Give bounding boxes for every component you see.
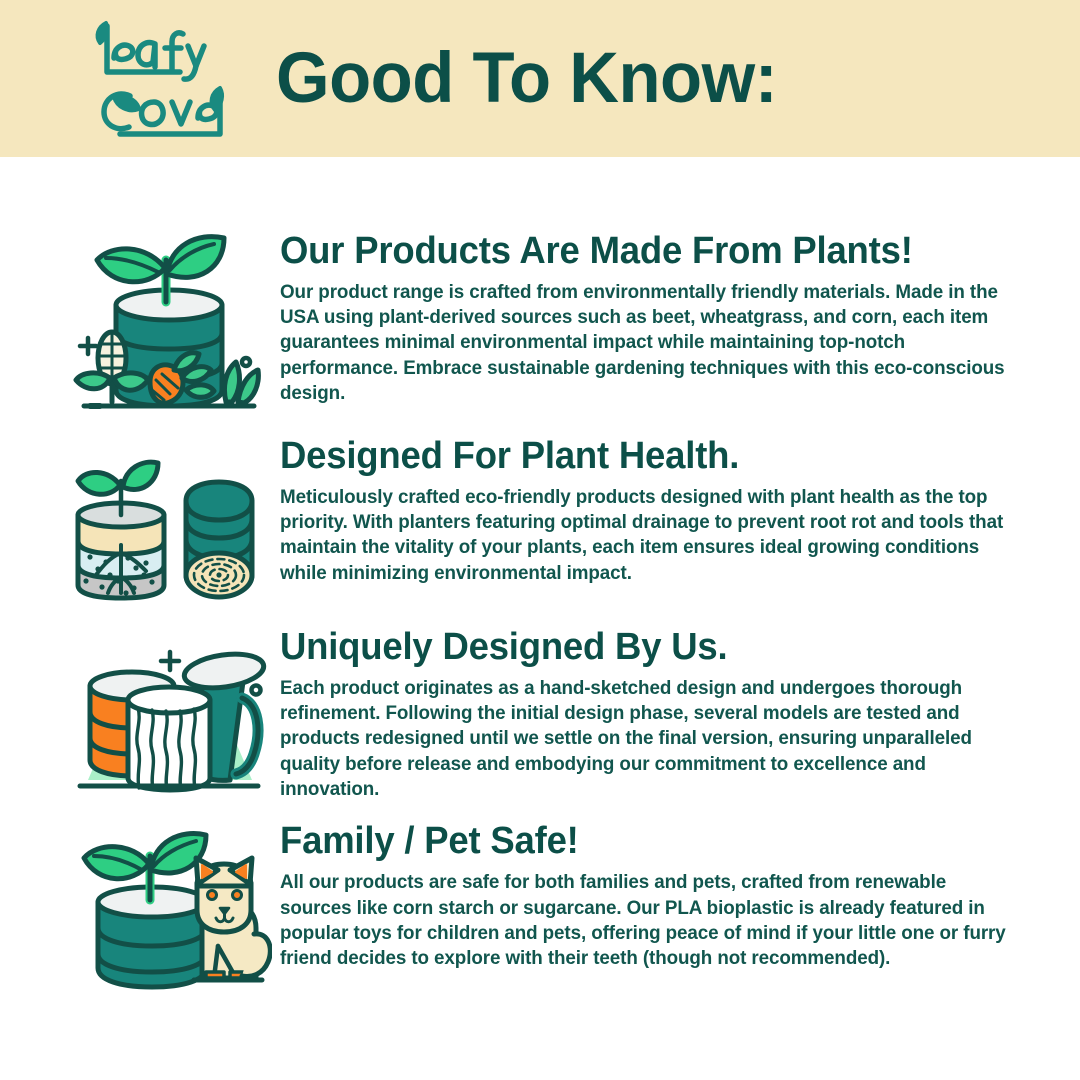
sprout-in-planter-with-vegetables-icon	[64, 230, 274, 415]
feature-body: All our products are safe for both famil…	[280, 870, 1019, 971]
feature-text-block: Our Products Are Made From Plants! Our p…	[274, 230, 1046, 406]
page-title: Good To Know:	[276, 43, 777, 114]
feature-item-unique-design: Uniquely Designed By Us. Each product or…	[0, 628, 1080, 802]
leaf-logo	[62, 14, 252, 144]
feature-text-block: Uniquely Designed By Us. Each product or…	[274, 628, 1046, 802]
feature-body: Meticulously crafted eco-friendly produc…	[280, 485, 1019, 586]
feature-heading: Family / Pet Safe!	[280, 822, 1015, 862]
planter-with-cat-icon	[64, 820, 274, 1003]
page-header: Good To Know:	[0, 0, 1080, 157]
feature-item-pet-safe: Family / Pet Safe! All our products are …	[0, 820, 1080, 1003]
feature-heading: Our Products Are Made From Plants!	[280, 232, 1015, 272]
soil-layers-cross-section-icon	[64, 437, 274, 612]
feature-text-block: Designed For Plant Health. Meticulously …	[274, 437, 1046, 586]
feature-item-plant-health: Designed For Plant Health. Meticulously …	[0, 437, 1080, 612]
feature-list: Our Products Are Made From Plants! Our p…	[0, 157, 1080, 1003]
stacked-planters-design-icon	[64, 628, 274, 798]
feature-body: Our product range is crafted from enviro…	[280, 280, 1019, 406]
feature-body: Each product originates as a hand-sketch…	[280, 676, 1019, 802]
feature-heading: Uniquely Designed By Us.	[280, 628, 1015, 668]
feature-heading: Designed For Plant Health.	[280, 437, 1015, 477]
feature-item-plants: Our Products Are Made From Plants! Our p…	[0, 230, 1080, 415]
feature-text-block: Family / Pet Safe! All our products are …	[274, 820, 1046, 971]
